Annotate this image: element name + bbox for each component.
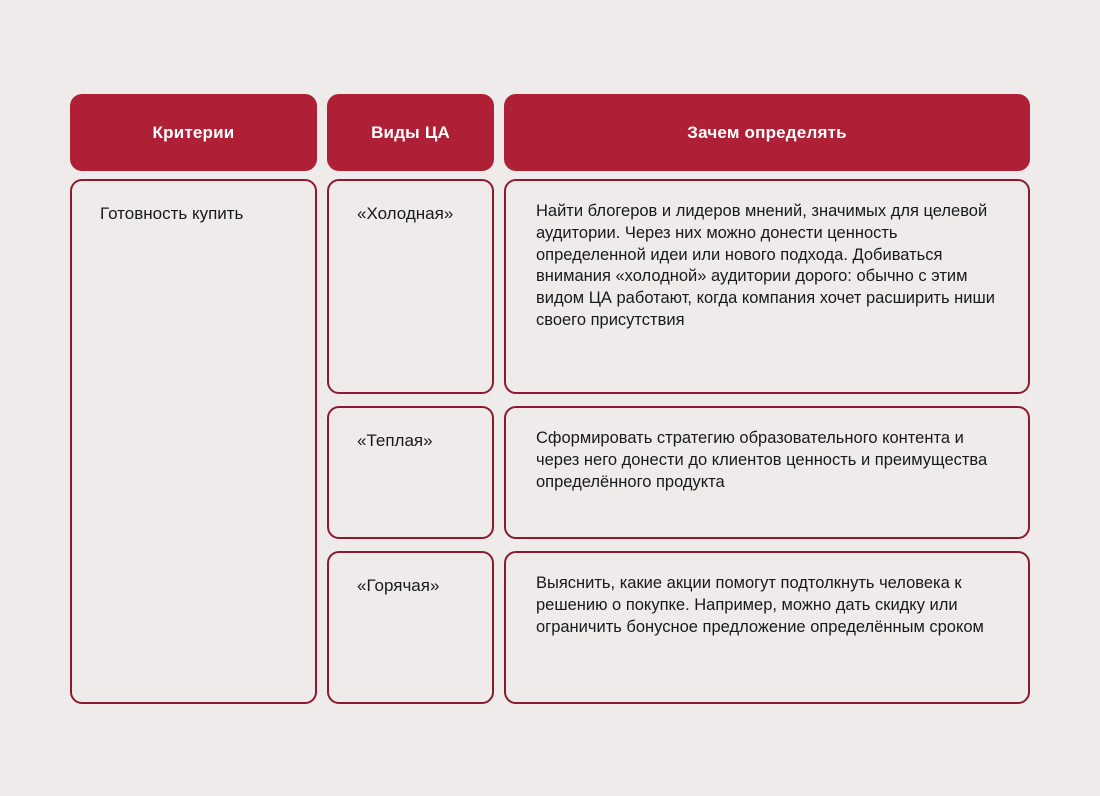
purpose-cell-hot: Выяснить, какие акции помогут подтолкнут… (504, 551, 1030, 704)
table-header-row: Критерии Виды ЦА Зачем определять (70, 94, 1026, 171)
audience-type-label-warm: «Теплая» (357, 430, 472, 453)
purpose-cell-warm: Сформировать стратегию образовательного … (504, 406, 1030, 539)
column-header-audience-types-label: Виды ЦА (371, 123, 450, 143)
purpose-text-cold: Найти блогеров и лидеров мнений, значимы… (536, 201, 1002, 332)
column-header-criteria: Критерии (70, 94, 317, 171)
audience-types-column: «Холодная» «Теплая» «Горячая» (327, 179, 494, 704)
comparison-table: Критерии Виды ЦА Зачем определять Готовн… (70, 94, 1026, 704)
purpose-text-hot: Выяснить, какие акции помогут подтолкнут… (536, 573, 1002, 638)
audience-type-cell-hot: «Горячая» (327, 551, 494, 704)
purpose-text-warm: Сформировать стратегию образовательного … (536, 428, 1002, 493)
column-header-criteria-label: Критерии (153, 123, 235, 143)
column-header-audience-types: Виды ЦА (327, 94, 494, 171)
purpose-cell-cold: Найти блогеров и лидеров мнений, значимы… (504, 179, 1030, 394)
audience-type-label-hot: «Горячая» (357, 575, 472, 598)
audience-type-cell-warm: «Теплая» (327, 406, 494, 539)
column-header-purpose-label: Зачем определять (687, 123, 847, 143)
column-header-purpose: Зачем определять (504, 94, 1030, 171)
audience-type-label-cold: «Холодная» (357, 203, 472, 226)
purpose-column: Найти блогеров и лидеров мнений, значимы… (504, 179, 1030, 704)
criteria-cell-label: Готовность купить (100, 203, 295, 226)
criteria-cell-readiness-to-buy: Готовность купить (70, 179, 317, 704)
criteria-column: Готовность купить (70, 179, 317, 704)
table-body: Готовность купить «Холодная» «Теплая» «Г… (70, 179, 1026, 704)
audience-type-cell-cold: «Холодная» (327, 179, 494, 394)
